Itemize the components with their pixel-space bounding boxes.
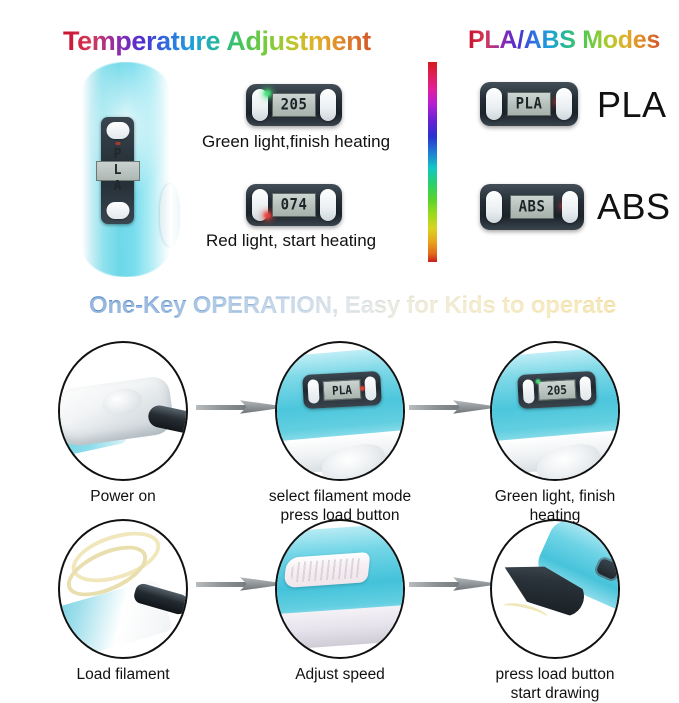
step-image-bubble xyxy=(275,519,405,659)
mini-display-module: 205 xyxy=(517,371,597,409)
module-lcd-value: 074 xyxy=(281,196,308,214)
step-caption: Adjust speed xyxy=(265,665,415,684)
mini-lcd-screen: 205 xyxy=(538,379,577,401)
mode-label-abs: ABS xyxy=(597,186,671,228)
step-caption: press load button start drawing xyxy=(480,665,630,703)
step-image-bubble xyxy=(58,519,188,659)
pen-status-led-icon xyxy=(115,142,120,145)
pen-side-tab xyxy=(160,184,180,246)
temperature-gradient-bar xyxy=(428,62,437,262)
art-pen-speed-slider xyxy=(277,521,403,657)
art-pen-display-mode: PLA xyxy=(277,343,403,479)
pen-up-button[interactable] xyxy=(106,122,129,139)
module-right-button[interactable] xyxy=(556,88,572,120)
mini-left-button[interactable] xyxy=(522,379,534,404)
module-lcd-screen: ABS xyxy=(510,195,554,219)
mini-right-button[interactable] xyxy=(579,376,591,401)
pen-display-panel: PLA xyxy=(101,117,134,224)
pen-down-button[interactable] xyxy=(106,202,129,219)
art-pen-display-heated: 205 xyxy=(492,343,618,479)
mini-lcd-value: 205 xyxy=(547,382,568,397)
one-key-operation-heading: One-Key OPERATION, Easy for Kids to oper… xyxy=(89,292,616,320)
module-left-button[interactable] xyxy=(486,88,502,120)
pla-abs-modes-title: PLA/ABS Modes xyxy=(468,26,660,55)
temperature-adjustment-title: Temperature Adjustment xyxy=(63,26,371,57)
mode-label-pla: PLA xyxy=(597,84,667,126)
step-load-filament: Load filament xyxy=(48,519,198,684)
mini-left-button[interactable] xyxy=(307,379,319,404)
step-image-bubble xyxy=(58,341,188,481)
mini-right-button[interactable] xyxy=(364,376,376,401)
led-red-icon xyxy=(264,212,271,219)
pen-lcd-value: PLA xyxy=(110,147,125,195)
module-lcd-value: ABS xyxy=(519,198,546,216)
step-caption: Load filament xyxy=(48,665,198,684)
module-lcd-value: 205 xyxy=(281,96,308,114)
module-lcd-screen: PLA xyxy=(507,92,551,116)
caption-red-light: Red light, start heating xyxy=(206,231,376,251)
led-green-icon xyxy=(264,90,271,97)
step-green-light-finish-heating: 205 Green light, finish heating xyxy=(480,341,630,525)
step-select-filament-mode: PLA select filament mode press load butt… xyxy=(265,341,415,525)
module-lcd-screen: 074 xyxy=(272,193,316,217)
caption-green-light: Green light,finish heating xyxy=(202,132,390,152)
display-module-pla: PLA xyxy=(480,82,578,126)
display-module-red: 074 xyxy=(246,184,342,226)
art-pen-nozzle-drawing xyxy=(492,521,618,657)
module-lcd-value: PLA xyxy=(516,95,543,113)
mini-lcd-screen: PLA xyxy=(323,379,362,401)
module-right-button[interactable] xyxy=(320,189,336,221)
step-caption: Power on xyxy=(48,487,198,506)
module-right-button[interactable] xyxy=(320,89,336,121)
pen-lcd-screen: PLA xyxy=(96,161,140,181)
step-adjust-speed: Adjust speed xyxy=(265,519,415,684)
step-image-bubble: 205 xyxy=(490,341,620,481)
mini-display-module: PLA xyxy=(302,371,382,409)
module-left-button[interactable] xyxy=(486,191,502,223)
module-right-button[interactable] xyxy=(562,191,578,223)
step-image-bubble: PLA xyxy=(275,341,405,481)
display-module-abs: ABS xyxy=(480,184,584,230)
display-module-green: 205 xyxy=(246,84,342,126)
art-pen-power-plug xyxy=(60,343,186,479)
step-image-bubble xyxy=(490,519,620,659)
step-power-on: Power on xyxy=(48,341,198,506)
pen-photo-temperature: PLA xyxy=(60,62,195,277)
art-pen-load-filament xyxy=(60,521,186,657)
mini-lcd-value: PLA xyxy=(332,382,353,397)
module-lcd-screen: 205 xyxy=(272,93,316,117)
speed-slider-window[interactable] xyxy=(284,552,371,588)
step-press-load-start-drawing: press load button start drawing xyxy=(480,519,630,703)
